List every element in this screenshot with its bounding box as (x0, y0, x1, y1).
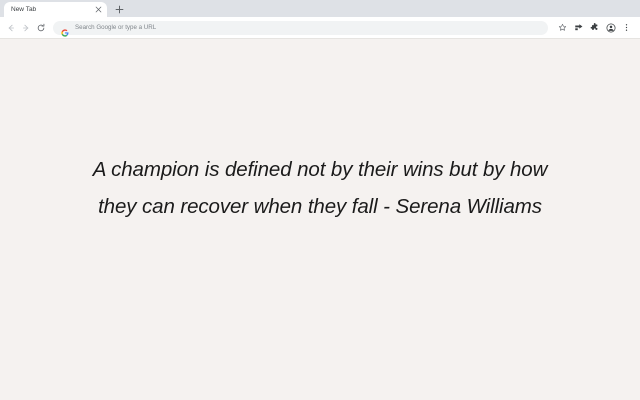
close-icon[interactable] (94, 5, 103, 14)
tab-strip: New Tab (0, 0, 640, 17)
profile-button[interactable] (603, 20, 618, 35)
bookmark-star-icon (558, 23, 567, 32)
bookmark-star-button[interactable] (555, 20, 570, 35)
extensions-puzzle-icon (590, 23, 600, 33)
tab-new-tab[interactable]: New Tab (4, 2, 107, 17)
forward-button[interactable] (18, 20, 33, 35)
share-button[interactable] (571, 20, 586, 35)
browser-toolbar: Search Google or type a URL (0, 17, 640, 39)
profile-avatar-icon (606, 23, 616, 33)
back-button[interactable] (3, 20, 18, 35)
tab-title: New Tab (11, 2, 94, 17)
extensions-button[interactable] (587, 20, 602, 35)
google-g-icon (61, 24, 69, 32)
address-bar-placeholder: Search Google or type a URL (75, 21, 156, 35)
arrow-back-icon (6, 23, 16, 33)
reload-button[interactable] (33, 20, 48, 35)
address-bar[interactable]: Search Google or type a URL (53, 21, 548, 35)
browser-window: New Tab (0, 0, 640, 400)
share-icon (574, 23, 584, 33)
quote-text: A champion is defined not by their wins … (85, 151, 555, 225)
arrow-forward-icon (21, 23, 31, 33)
reload-icon (36, 23, 46, 33)
more-menu-icon (622, 23, 631, 32)
new-tab-button[interactable] (112, 2, 126, 16)
more-menu-button[interactable] (619, 20, 634, 35)
page-content: A champion is defined not by their wins … (0, 39, 640, 400)
